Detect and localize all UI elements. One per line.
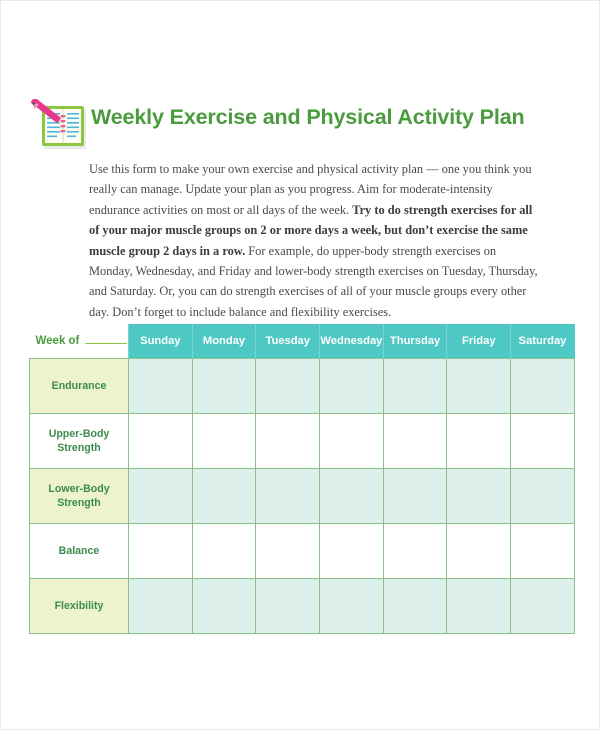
week-of-blank-line[interactable] <box>85 343 127 344</box>
cell-flexibility-friday[interactable] <box>447 579 511 634</box>
notebook-pencil-icon <box>31 99 89 151</box>
week-of-field[interactable]: Week of <box>30 324 129 359</box>
row-label-endurance: Endurance <box>30 359 129 414</box>
cell-endurance-wednesday[interactable] <box>320 359 384 414</box>
column-header-thursday: Thursday <box>383 324 447 359</box>
row-label-line-1: Lower-Body <box>48 483 109 495</box>
row-label-line-2: Strength <box>57 497 101 509</box>
cell-lower-body-strength-monday[interactable] <box>192 469 256 524</box>
week-of-label: Week of <box>36 335 80 347</box>
column-header-saturday: Saturday <box>511 324 575 359</box>
weekly-plan-table: Week of Sunday Monday Tuesday Wednesday … <box>29 324 575 634</box>
cell-flexibility-wednesday[interactable] <box>320 579 384 634</box>
cell-lower-body-strength-wednesday[interactable] <box>320 469 384 524</box>
cell-lower-body-strength-friday[interactable] <box>447 469 511 524</box>
cell-upper-body-strength-wednesday[interactable] <box>320 414 384 469</box>
cell-balance-friday[interactable] <box>447 524 511 579</box>
intro-paragraph: Use this form to make your own exercise … <box>89 159 541 322</box>
table-row: Endurance <box>30 359 575 414</box>
cell-endurance-sunday[interactable] <box>129 359 193 414</box>
column-header-sunday: Sunday <box>129 324 193 359</box>
cell-balance-sunday[interactable] <box>129 524 193 579</box>
cell-endurance-monday[interactable] <box>192 359 256 414</box>
cell-balance-thursday[interactable] <box>383 524 447 579</box>
table-row: Flexibility <box>30 579 575 634</box>
cell-balance-tuesday[interactable] <box>256 524 320 579</box>
page-title: Weekly Exercise and Physical Activity Pl… <box>91 105 525 130</box>
row-label-line-2: Strength <box>57 442 101 454</box>
document-page: Weekly Exercise and Physical Activity Pl… <box>0 0 600 730</box>
row-label-line-1: Upper-Body <box>49 428 110 440</box>
table-header-row: Week of Sunday Monday Tuesday Wednesday … <box>30 324 575 359</box>
row-label-lower-body-strength: Lower-Body Strength <box>30 469 129 524</box>
row-label-upper-body-strength: Upper-Body Strength <box>30 414 129 469</box>
column-header-tuesday: Tuesday <box>256 324 320 359</box>
row-label-flexibility: Flexibility <box>30 579 129 634</box>
cell-upper-body-strength-thursday[interactable] <box>383 414 447 469</box>
document-header: Weekly Exercise and Physical Activity Pl… <box>31 97 551 153</box>
cell-endurance-saturday[interactable] <box>511 359 575 414</box>
cell-upper-body-strength-saturday[interactable] <box>511 414 575 469</box>
cell-lower-body-strength-tuesday[interactable] <box>256 469 320 524</box>
cell-upper-body-strength-monday[interactable] <box>192 414 256 469</box>
cell-balance-wednesday[interactable] <box>320 524 384 579</box>
column-header-monday: Monday <box>192 324 256 359</box>
cell-balance-monday[interactable] <box>192 524 256 579</box>
column-header-wednesday: Wednesday <box>320 324 384 359</box>
cell-flexibility-thursday[interactable] <box>383 579 447 634</box>
cell-upper-body-strength-sunday[interactable] <box>129 414 193 469</box>
cell-endurance-friday[interactable] <box>447 359 511 414</box>
row-label-balance: Balance <box>30 524 129 579</box>
table-row: Upper-Body Strength <box>30 414 575 469</box>
cell-flexibility-sunday[interactable] <box>129 579 193 634</box>
cell-flexibility-saturday[interactable] <box>511 579 575 634</box>
cell-balance-saturday[interactable] <box>511 524 575 579</box>
cell-flexibility-monday[interactable] <box>192 579 256 634</box>
cell-upper-body-strength-friday[interactable] <box>447 414 511 469</box>
column-header-friday: Friday <box>447 324 511 359</box>
cell-lower-body-strength-saturday[interactable] <box>511 469 575 524</box>
cell-lower-body-strength-thursday[interactable] <box>383 469 447 524</box>
table-row: Lower-Body Strength <box>30 469 575 524</box>
table-row: Balance <box>30 524 575 579</box>
cell-upper-body-strength-tuesday[interactable] <box>256 414 320 469</box>
cell-flexibility-tuesday[interactable] <box>256 579 320 634</box>
cell-endurance-tuesday[interactable] <box>256 359 320 414</box>
cell-lower-body-strength-sunday[interactable] <box>129 469 193 524</box>
cell-endurance-thursday[interactable] <box>383 359 447 414</box>
